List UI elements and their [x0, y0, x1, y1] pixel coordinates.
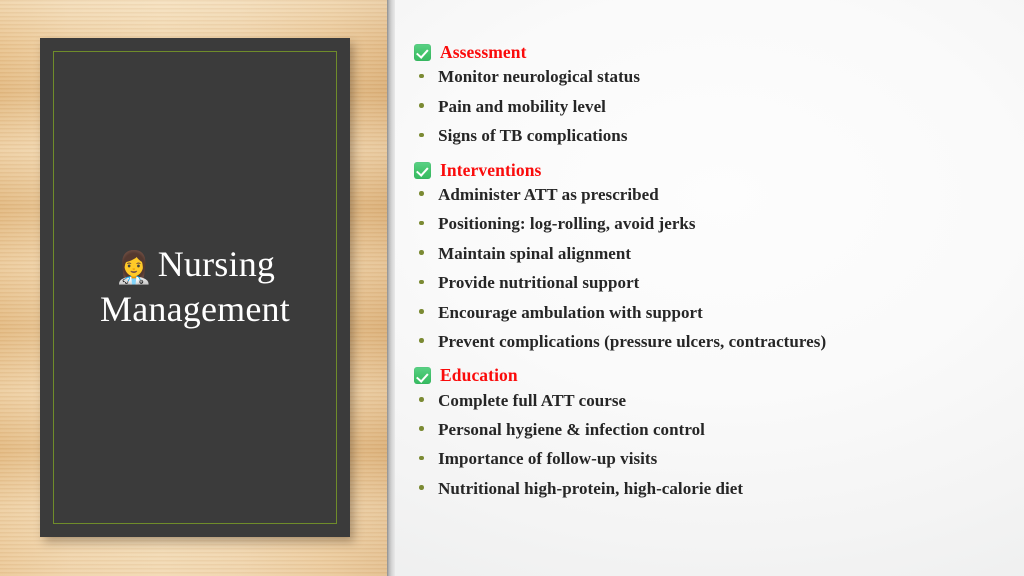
section-heading-row: Education — [395, 361, 1024, 390]
section-heading-row: Interventions — [395, 156, 1024, 185]
section-heading-label: Education — [440, 365, 518, 386]
bullet-dot-icon — [419, 221, 424, 226]
list-item: Maintain spinal alignment — [395, 244, 1024, 273]
list-item-label: Provide nutritional support — [438, 273, 639, 293]
list-item-label: Importance of follow-up visits — [438, 449, 657, 469]
check-box-green-icon — [414, 44, 431, 61]
list-item: Prevent complications (pressure ulcers, … — [395, 332, 1024, 361]
bullet-dot-icon — [419, 280, 424, 285]
list-item: Positioning: log-rolling, avoid jerks — [395, 214, 1024, 243]
list-item: Signs of TB complications — [395, 126, 1024, 155]
health-worker-icon: 👩‍⚕️ — [115, 250, 154, 286]
section-heading-label: Assessment — [440, 42, 527, 63]
list-item: Nutritional high-protein, high-calorie d… — [395, 479, 1024, 508]
title-card: 👩‍⚕️NursingManagement — [40, 38, 350, 537]
bullet-dot-icon — [419, 74, 424, 79]
list-item-label: Nutritional high-protein, high-calorie d… — [438, 479, 743, 499]
bullet-dot-icon — [419, 456, 424, 461]
list-item-label: Pain and mobility level — [438, 97, 606, 117]
list-item-label: Administer ATT as prescribed — [438, 185, 659, 205]
check-box-green-icon — [414, 162, 431, 179]
section-heading-row: Assessment — [395, 38, 1024, 67]
section-heading-label: Interventions — [440, 160, 541, 181]
list-item-label: Prevent complications (pressure ulcers, … — [438, 332, 826, 352]
bullet-dot-icon — [419, 133, 424, 138]
list-item: Complete full ATT course — [395, 391, 1024, 420]
title-card-inner-border: 👩‍⚕️NursingManagement — [53, 51, 337, 524]
list-item-label: Positioning: log-rolling, avoid jerks — [438, 214, 696, 234]
list-item-label: Signs of TB complications — [438, 126, 627, 146]
page-title: 👩‍⚕️NursingManagement — [94, 243, 296, 332]
content-panel: AssessmentMonitor neurological statusPai… — [395, 0, 1024, 576]
page-title-line2: Management — [100, 289, 290, 329]
list-item-label: Encourage ambulation with support — [438, 303, 703, 323]
bullet-dot-icon — [419, 485, 424, 490]
list-item: Provide nutritional support — [395, 273, 1024, 302]
bullet-dot-icon — [419, 309, 424, 314]
bullet-dot-icon — [419, 103, 424, 108]
list-item-label: Maintain spinal alignment — [438, 244, 631, 264]
bullet-dot-icon — [419, 191, 424, 196]
bullet-dot-icon — [419, 250, 424, 255]
check-box-green-icon — [414, 367, 431, 384]
list-item: Administer ATT as prescribed — [395, 185, 1024, 214]
nursing-management-list: AssessmentMonitor neurological statusPai… — [395, 38, 1024, 508]
list-item: Encourage ambulation with support — [395, 303, 1024, 332]
page-title-line1: Nursing — [158, 244, 275, 284]
panel-divider — [387, 0, 395, 576]
bullet-dot-icon — [419, 426, 424, 431]
list-item: Monitor neurological status — [395, 67, 1024, 96]
bullet-dot-icon — [419, 338, 424, 343]
list-item-label: Monitor neurological status — [438, 67, 640, 87]
presentation-slide: 👩‍⚕️NursingManagement AssessmentMonitor … — [0, 0, 1024, 576]
list-item-label: Personal hygiene & infection control — [438, 420, 705, 440]
list-item: Importance of follow-up visits — [395, 449, 1024, 478]
list-item: Personal hygiene & infection control — [395, 420, 1024, 449]
bullet-dot-icon — [419, 397, 424, 402]
list-item-label: Complete full ATT course — [438, 391, 626, 411]
list-item: Pain and mobility level — [395, 97, 1024, 126]
